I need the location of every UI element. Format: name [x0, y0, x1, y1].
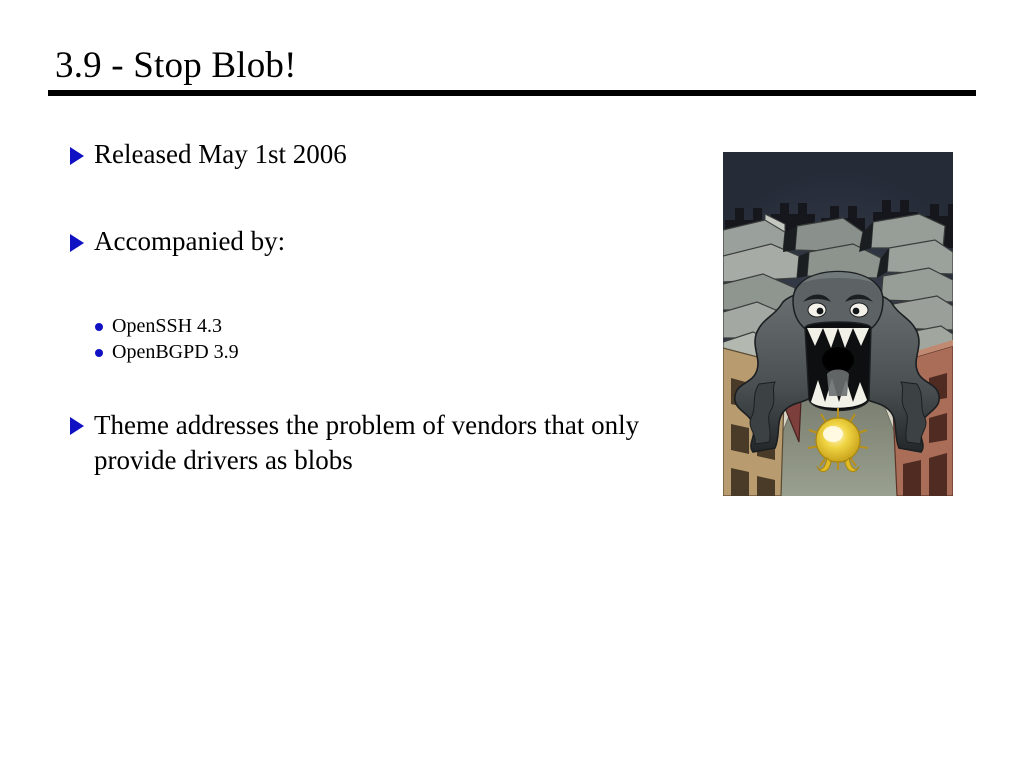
bullet-item-released: Released May 1st 2006	[70, 138, 347, 171]
sub-bullet-item-openbgpd: OpenBGPD 3.9	[95, 340, 239, 364]
dot-bullet-icon	[95, 323, 103, 331]
triangle-bullet-icon	[70, 234, 84, 252]
sub-bullet-label-openssh: OpenSSH 4.3	[112, 314, 222, 338]
blob-monster-illustration	[723, 152, 953, 496]
blob-throat	[822, 347, 854, 373]
triangle-bullet-icon	[70, 147, 84, 165]
triangle-bullet-icon	[70, 417, 84, 435]
bullet-item-accompanied-by: Accompanied by:	[70, 225, 285, 258]
bullet-label-accompanied-by: Accompanied by:	[94, 225, 285, 258]
sub-bullet-label-openbgpd: OpenBGPD 3.9	[112, 340, 239, 364]
bullet-label-theme: Theme addresses the problem of vendors t…	[94, 408, 714, 478]
bullet-item-theme: Theme addresses the problem of vendors t…	[70, 408, 714, 478]
dot-bullet-icon	[95, 349, 103, 357]
bullet-label-released: Released May 1st 2006	[94, 138, 347, 171]
sub-bullet-item-openssh: OpenSSH 4.3	[95, 314, 222, 338]
blob-tongue	[827, 370, 849, 397]
